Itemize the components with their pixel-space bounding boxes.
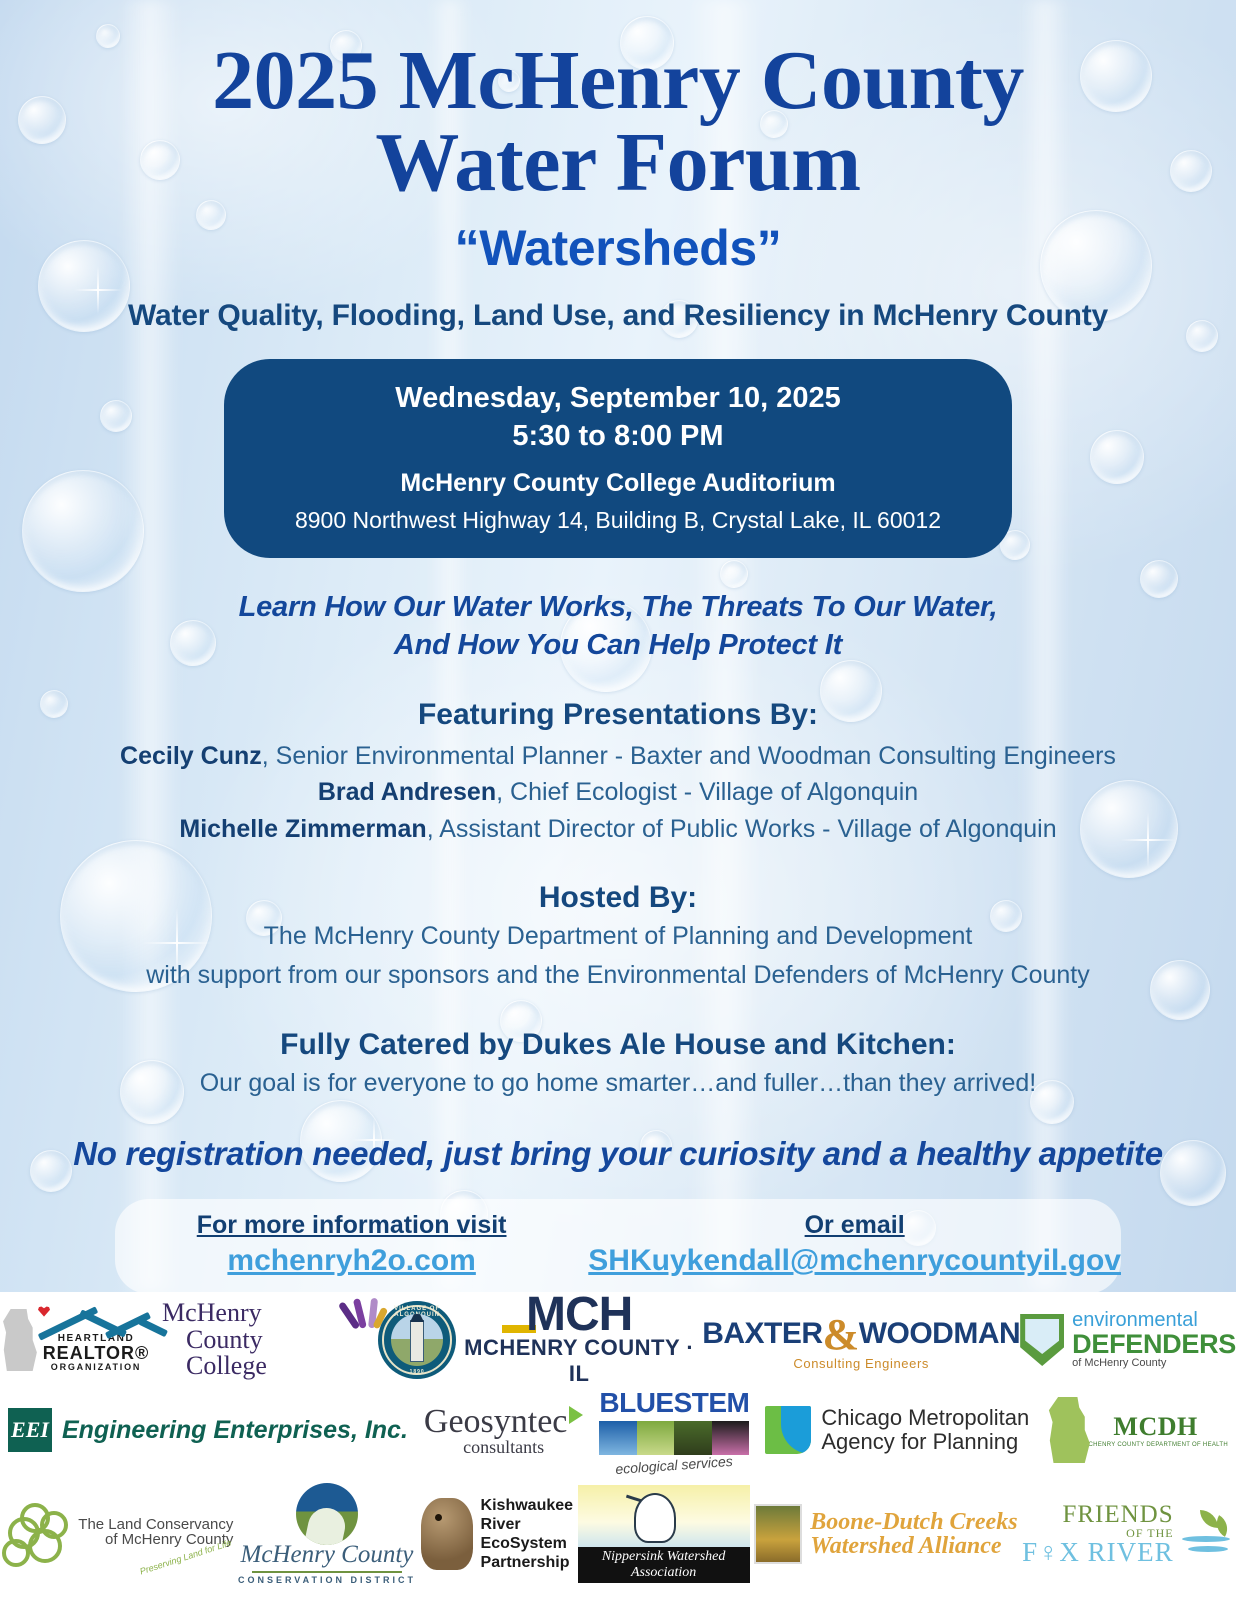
logo-text: REALTOR®: [30, 1344, 162, 1363]
event-time: 5:30 to 8:00 PM: [250, 417, 986, 455]
logo-text: Geosyntec: [424, 1403, 568, 1440]
logo-bluestem: BLUESTEM ecological services: [599, 1387, 749, 1473]
ampersand-icon: &: [823, 1310, 859, 1359]
tagline-line-2: And How You Can Help Protect It: [0, 626, 1236, 664]
contact-bar: For more information visit mchenryh2o.co…: [115, 1199, 1121, 1294]
logo-text: Partnership: [481, 1553, 573, 1572]
list-item: Brad Andresen, Chief Ecologist - Village…: [0, 774, 1236, 810]
logo-text: Kishwaukee: [481, 1496, 573, 1515]
website-label: For more information visit: [115, 1211, 588, 1240]
logo-kishwaukee-river: Kishwaukee River EcoSystem Partnership: [421, 1496, 573, 1573]
tree-swirl-icon: [2, 1503, 76, 1565]
logo-text: MCH: [526, 1293, 632, 1337]
website-link[interactable]: mchenryh2o.com: [115, 1244, 588, 1278]
logo-baxter-woodman: BAXTER&WOODMAN Consulting Engineers: [702, 1309, 1020, 1371]
eei-monogram-icon: EEI: [8, 1408, 52, 1452]
tagline-line-1: Learn How Our Water Works, The Threats T…: [0, 588, 1236, 626]
logo-text: Watershed Alliance: [810, 1534, 1017, 1558]
logo-mchenry-county-college: McHenry County College: [162, 1300, 378, 1380]
logo-heartland-realtor: HEARTLAND REALTOR® ORGANIZATION: [0, 1308, 162, 1373]
logo-text: 1890: [378, 1369, 456, 1375]
speaker-list: Cecily Cunz, Senior Environmental Planne…: [0, 738, 1236, 847]
logo-mchenry-county-conservation-district: McHenry County CONSERVATION DISTRICT: [238, 1483, 416, 1585]
event-details-box: Wednesday, September 10, 2025 5:30 to 8:…: [224, 359, 1012, 558]
logo-engineering-enterprises: EEI Engineering Enterprises, Inc.: [8, 1408, 408, 1452]
logo-nippersink-watershed: Nippersink Watershed Association: [578, 1485, 750, 1583]
logo-text: WOODMAN: [859, 1317, 1020, 1350]
logo-text: Agency for Planning: [821, 1430, 1029, 1454]
logo-text: MCHENRY COUNTY DEPARTMENT OF HEALTH: [1083, 1442, 1228, 1448]
list-item: Cecily Cunz, Senior Environmental Planne…: [0, 738, 1236, 774]
logo-text: DEFENDERS: [1072, 1331, 1236, 1359]
logo-mchenry-county-il: MCH MCHENRY COUNTY · IL: [456, 1293, 702, 1387]
otter-icon: [421, 1498, 473, 1570]
registration-note: No registration needed, just bring your …: [0, 1135, 1236, 1173]
logo-text: of McHenry County: [1072, 1358, 1236, 1369]
hosted-line-1: The McHenry County Department of Plannin…: [0, 919, 1236, 955]
contact-email: Or email SHKuykendall@mchenrycountyil.go…: [588, 1211, 1121, 1278]
speaker-detail: , Chief Ecologist - Village of Algonquin: [496, 778, 918, 806]
event-date: Wednesday, September 10, 2025: [250, 379, 986, 417]
logo-text: BLUESTEM: [599, 1387, 749, 1419]
event-address: 8900 Northwest Highway 14, Building B, C…: [250, 506, 986, 536]
turtle-photo-icon: [754, 1504, 802, 1564]
logo-text: Engineering Enterprises, Inc.: [62, 1416, 408, 1445]
page-title: 2025 McHenry County Water Forum: [0, 0, 1236, 205]
logo-text: Nippersink Watershed Association: [578, 1547, 750, 1583]
village-seal-icon: VILLAGE OF ALGONQUIN 1890: [378, 1301, 456, 1379]
landscape-circle-icon: [296, 1483, 358, 1545]
logo-text: Boone-Dutch Creeks: [810, 1510, 1017, 1534]
email-link[interactable]: SHKuykendall@mchenrycountyil.gov: [588, 1244, 1121, 1278]
logo-environmental-defenders: environmental DEFENDERS of McHenry Count…: [1020, 1310, 1236, 1369]
catered-line-1: Our goal is for everyone to go home smar…: [0, 1066, 1236, 1102]
logo-text: River: [481, 1515, 573, 1534]
logo-village-of-algonquin: VILLAGE OF ALGONQUIN 1890: [378, 1301, 456, 1379]
sponsor-logo-band: HEARTLAND REALTOR® ORGANIZATION McHenry …: [0, 1292, 1236, 1600]
logo-text: ORGANIZATION: [30, 1363, 162, 1372]
sponsor-row-2: EEI Engineering Enterprises, Inc. Geosyn…: [0, 1388, 1236, 1472]
logo-text: McHenry County: [238, 1541, 416, 1569]
contact-website: For more information visit mchenryh2o.co…: [115, 1211, 588, 1278]
water-forum-flyer: 2025 McHenry County Water Forum “Watersh…: [0, 0, 1236, 1600]
title-line-2: Water Forum: [0, 122, 1236, 204]
logo-mcdh: MCDH MCHENRY COUNTY DEPARTMENT OF HEALTH: [1045, 1397, 1228, 1463]
logo-text: MCHENRY COUNTY · IL: [456, 1335, 702, 1387]
hosted-line-2: with support from our sponsors and the E…: [0, 958, 1236, 994]
shield-icon: [1020, 1314, 1064, 1366]
roofline-icon: [30, 1308, 162, 1334]
logo-boone-dutch-creeks: Boone-Dutch Creeks Watershed Alliance: [754, 1504, 1017, 1564]
illinois-outline-icon: [1045, 1397, 1091, 1463]
logo-text: Chicago Metropolitan: [821, 1406, 1029, 1430]
speaker-detail: , Senior Environmental Planner - Baxter …: [262, 742, 1116, 770]
logo-text: BAXTER: [702, 1317, 822, 1350]
logo-land-conservancy: The Land Conservancy of McHenry County P…: [2, 1503, 233, 1565]
tagline: Learn How Our Water Works, The Threats T…: [0, 588, 1236, 665]
featuring-heading: Featuring Presentations By:: [0, 698, 1236, 732]
fan-swoosh-icon: [338, 1294, 378, 1330]
title-line-1: 2025 McHenry County: [0, 0, 1236, 122]
logo-text: CONSERVATION DISTRICT: [238, 1575, 416, 1585]
logo-text: FRIENDS: [1022, 1502, 1174, 1527]
heron-marsh-icon: [578, 1485, 750, 1547]
list-item: Michelle Zimmerman, Assistant Director o…: [0, 811, 1236, 847]
logo-geosyntec: Geosyntec consultants: [424, 1403, 584, 1458]
theme-title: “Watersheds”: [0, 219, 1236, 277]
speaker-detail: , Assistant Director of Public Works - V…: [427, 815, 1057, 843]
logo-text: County College: [162, 1327, 342, 1380]
logo-text: McHenry: [162, 1300, 342, 1327]
speaker-name: Brad Andresen: [318, 778, 496, 806]
logo-text: The Land Conservancy: [78, 1517, 233, 1533]
logo-text: F♀X RIVER: [1022, 1539, 1174, 1566]
sponsor-row-1: HEARTLAND REALTOR® ORGANIZATION McHenry …: [0, 1292, 1236, 1388]
speaker-name: Michelle Zimmerman: [179, 815, 426, 843]
logo-text: environmental: [1072, 1310, 1236, 1330]
leaf-water-icon: [1180, 1510, 1234, 1558]
logo-friends-of-the-fox-river: FRIENDS OF THE F♀X RIVER: [1022, 1502, 1234, 1566]
divider: [252, 1571, 402, 1573]
logo-cmap: Chicago Metropolitan Agency for Planning: [765, 1406, 1029, 1454]
speaker-name: Cecily Cunz: [120, 742, 262, 770]
nature-photo-strip-icon: [599, 1421, 749, 1455]
catered-heading: Fully Catered by Dukes Ale House and Kit…: [0, 1028, 1236, 1062]
event-venue: McHenry County College Auditorium: [250, 467, 986, 500]
email-label: Or email: [588, 1211, 1121, 1240]
hosted-heading: Hosted By:: [0, 881, 1236, 915]
cmap-mark-icon: [765, 1406, 811, 1454]
triangle-icon: [569, 1406, 583, 1424]
subtitle: Water Quality, Flooding, Land Use, and R…: [0, 299, 1236, 333]
sponsor-row-3: The Land Conservancy of McHenry County P…: [0, 1472, 1236, 1596]
logo-text: MCDH: [1083, 1412, 1228, 1442]
logo-text: EcoSystem: [481, 1534, 573, 1553]
